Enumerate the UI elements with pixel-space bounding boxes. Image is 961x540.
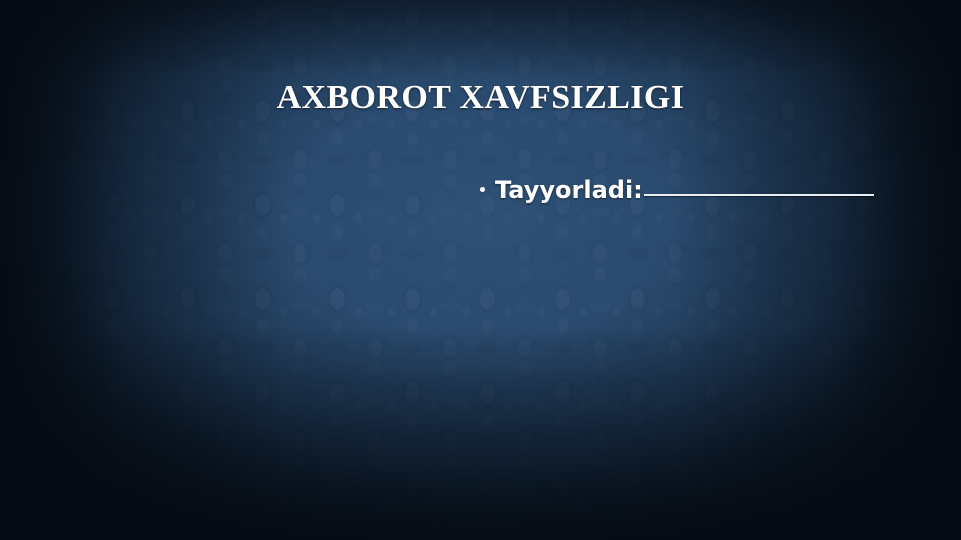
slide-title: AXBOROT XAVFSIZLIGI <box>0 78 961 118</box>
fill-in-blank-rule <box>644 194 874 196</box>
slide-content: AXBOROT XAVFSIZLIGI Tayyorladi: <box>0 0 961 540</box>
bullet-list-item: Tayyorladi: <box>480 176 874 204</box>
bullet-dot-icon <box>480 187 485 192</box>
presentation-slide: AXBOROT XAVFSIZLIGI Tayyorladi: <box>0 0 961 540</box>
bullet-item-label: Tayyorladi: <box>495 176 643 204</box>
